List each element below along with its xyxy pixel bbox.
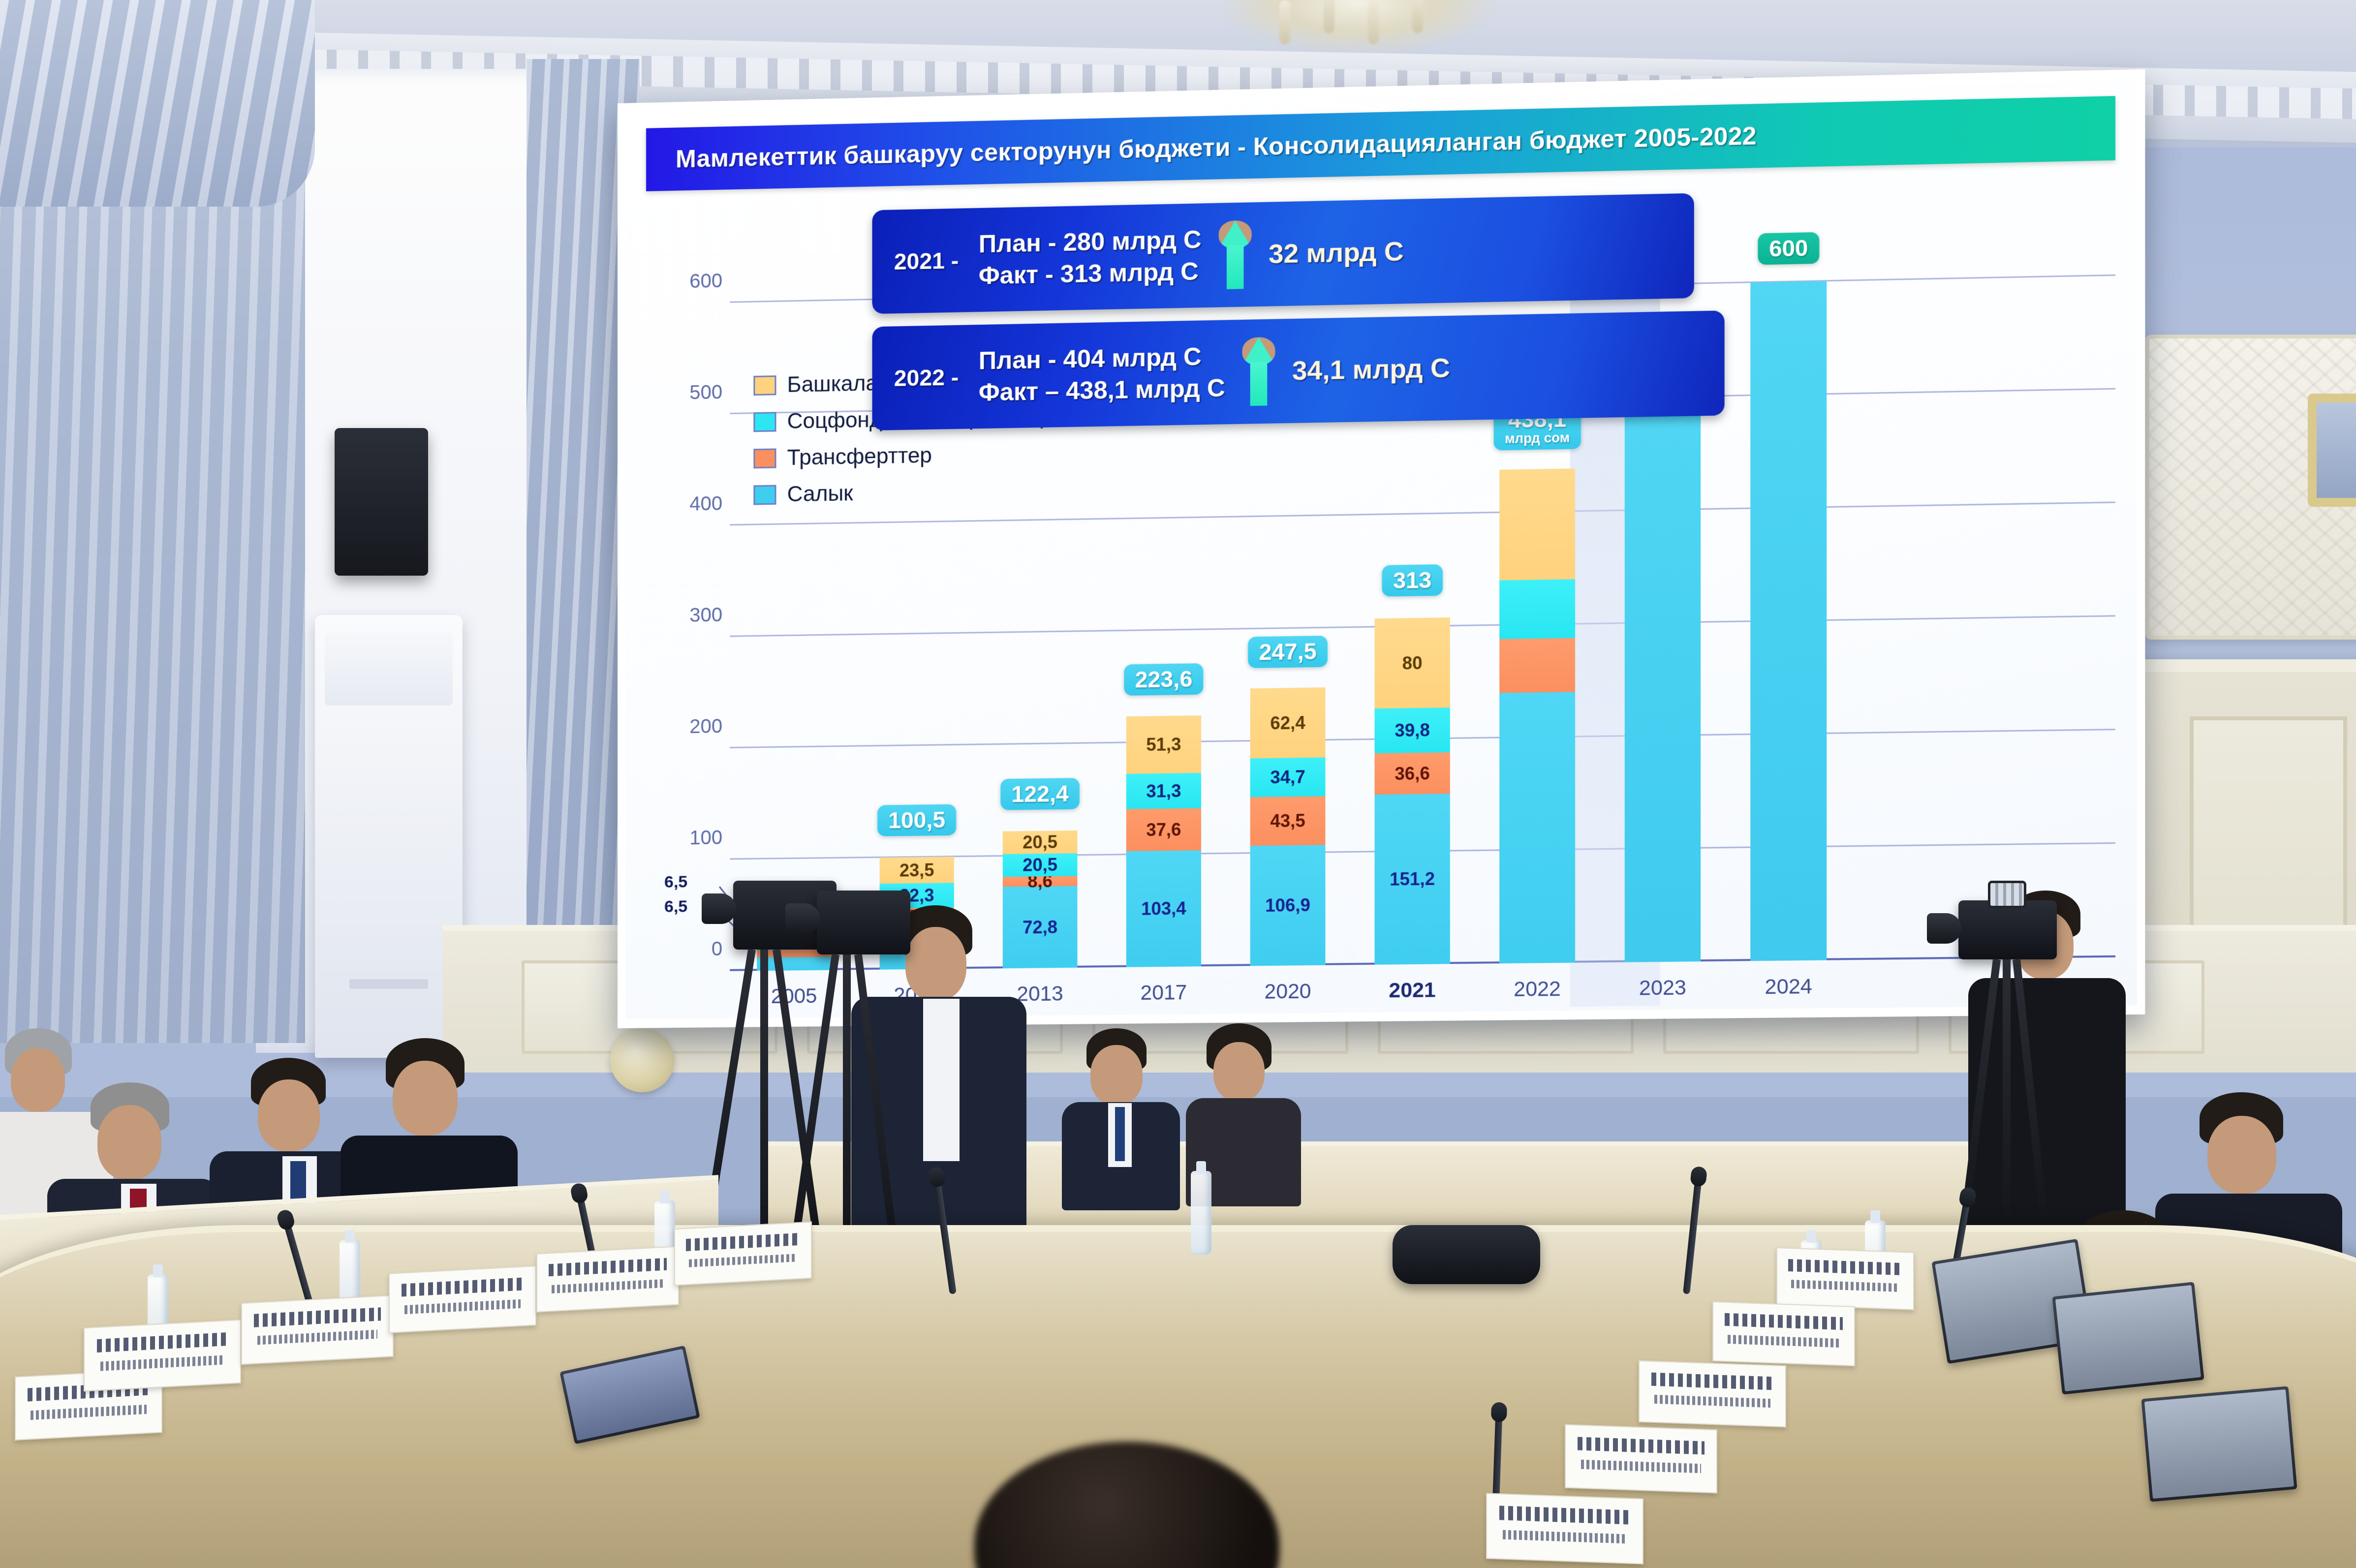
bar-total-unit: млрд сом [1505,431,1570,446]
camera-light-icon [1988,881,2026,908]
bar-segment-socfond: 34,7 [1250,758,1326,798]
y-axis-tick-600: 600 [646,270,722,293]
bar-segment-socfond: 31,3 [1126,773,1201,809]
bar-segment-transfert [1499,638,1575,693]
legend-item-salyk[interactable]: Салык [753,478,1047,507]
presentation-screen: Мамлекеттик башкаруу секторунун бюджети … [618,69,2145,1028]
x-axis-label-2013: 2013 [1017,982,1063,1006]
name-placard [1486,1493,1643,1564]
bar-group-2022[interactable]: 438,1 млрд сом 2022 [1499,963,1575,964]
bar-segment-projection [1750,281,1827,961]
bar-segment-projection [1625,393,1701,962]
bar-group-2023[interactable]: 503,4 2023 [1625,961,1701,962]
bar-segment-transfert: 36,6 [1374,752,1450,795]
bar-group-2013[interactable]: 72,8 8,6 20,5 20,5 122,4 2013 [1003,968,1078,969]
press-microphone-cluster [1393,1225,1540,1284]
x-axis-label-2024: 2024 [1765,974,1812,999]
bar-segment-salyk: 72,8 [1003,886,1078,969]
slide-title: Мамлекеттик башкаруу секторунун бюджети … [676,122,1757,174]
curtain-valance [0,0,315,207]
bar-segment-bashkalar: 62,4 [1250,687,1326,758]
legend-item-transfertter[interactable]: Трансферттер [753,441,1047,471]
legend-label: Салык [787,481,853,507]
legend-swatch-socfond [753,412,776,432]
name-placard [389,1265,536,1333]
y-axis-tick-400: 400 [646,492,722,516]
x-axis-label-2017: 2017 [1140,981,1187,1005]
name-placard [241,1295,394,1365]
x-axis-label-2021: 2021 [1389,978,1436,1002]
laptop [2052,1282,2204,1394]
callout-year: 2021 - [872,246,973,275]
callout-box-2022: 2022 - План - 404 млрд С Факт – 438,1 мл… [872,310,1725,430]
gold-picture-frame [2308,394,2356,507]
name-placard [674,1222,812,1286]
annotation-2005-socfond: 6,5 [664,872,687,892]
chandelier [1220,0,1496,54]
name-placard [1776,1247,1914,1310]
air-conditioner [315,615,463,1058]
bar-total-badge: 223,6 [1124,663,1204,696]
bar-total-badge: 600 [1758,232,1819,265]
bar-group-2017[interactable]: 103,4 37,6 31,3 51,3 223,6 2017 [1126,966,1201,967]
bar-segment-bashkalar: 51,3 [1126,715,1201,774]
bar-total-badge: 313 [1382,564,1442,597]
bar-segment-salyk [1499,692,1575,963]
wall-speaker [335,428,428,576]
legend-label: Трансферттер [787,443,932,470]
x-axis-label-2023: 2023 [1639,976,1686,1000]
arrow-up-icon [1218,220,1251,290]
name-placard [84,1320,241,1392]
bar-segment-transfert: 8,6 [1003,876,1078,887]
legend-swatch-transfertter [753,448,776,468]
bar-group-2024[interactable]: 600 2024 [1750,960,1827,961]
bar-segment-salyk: 103,4 [1126,850,1201,967]
bar-segment-bashkalar: 80 [1374,617,1450,708]
bar-segment-socfond [1499,579,1575,639]
callout-box-2021: 2021 - План - 280 млрд С Факт - 313 млрд… [872,193,1694,314]
callout-delta: 34,1 млрд С [1292,352,1470,386]
bar-segment-socfond: 39,8 [1374,707,1450,753]
bar-total-badge: 122,4 [1000,778,1080,810]
callout-year: 2022 - [872,364,973,392]
bar-segment-salyk: 106,9 [1250,845,1326,966]
y-axis-tick-200: 200 [646,715,722,738]
video-camera [1958,900,2057,959]
x-axis-label-2022: 2022 [1514,977,1561,1001]
bar-segment-transfert: 37,6 [1126,808,1201,851]
bar-segment-bashkalar: 20,5 [1003,830,1078,854]
bar-segment-socfond: 20,5 [1003,853,1078,877]
callout-plan: План - 404 млрд С [979,342,1225,375]
callout-delta: 32 млрд С [1269,236,1424,270]
callout-lines: План - 404 млрд С Факт – 438,1 млрд С [973,342,1225,407]
x-axis-label-2020: 2020 [1264,979,1311,1003]
y-axis-tick-0: 0 [646,938,722,961]
name-placard [1712,1301,1855,1366]
callout-lines: План - 280 млрд С Факт - 313 млрд С [973,225,1202,290]
callout-plan: План - 280 млрд С [979,225,1202,259]
name-placard [1565,1424,1717,1494]
name-placard [1639,1360,1786,1427]
legend-swatch-bashkalar [753,375,776,396]
video-camera-center [817,891,910,954]
state-emblem [610,1028,674,1092]
bar-segment-transfert: 43,5 [1250,796,1326,846]
y-axis-tick-300: 300 [646,604,722,627]
name-placard [536,1246,679,1312]
laptop [2141,1386,2297,1502]
water-bottle [1191,1171,1211,1255]
annotation-2005-transfert: 6,5 [664,897,687,917]
conference-room-photo: Мамлекеттик башкаруу секторунун бюджети … [0,0,2356,1568]
bar-total-badge: 247,5 [1248,636,1328,668]
bar-total-badge: 100,5 [877,804,956,836]
arrow-up-icon [1242,337,1275,406]
bar-group-2021[interactable]: 151,2 36,6 39,8 80 313 2021 [1374,964,1450,965]
bar-segment-salyk: 151,2 [1374,794,1450,965]
callout-fact: Факт – 438,1 млрд С [979,373,1225,406]
bar-segment-bashkalar [1499,468,1575,580]
bar-segment-bashkalar: 23,5 [880,857,954,884]
slide-canvas: Мамлекеттик башкаруу секторунун бюджети … [625,80,2137,1019]
legend-swatch-salyk [753,485,776,505]
y-axis-tick-500: 500 [646,381,722,405]
callout-fact: Факт - 313 млрд С [979,257,1202,290]
bar-group-2020[interactable]: 106,9 43,5 34,7 62,4 247,5 2020 [1250,965,1326,966]
y-axis-tick-100: 100 [646,827,722,850]
